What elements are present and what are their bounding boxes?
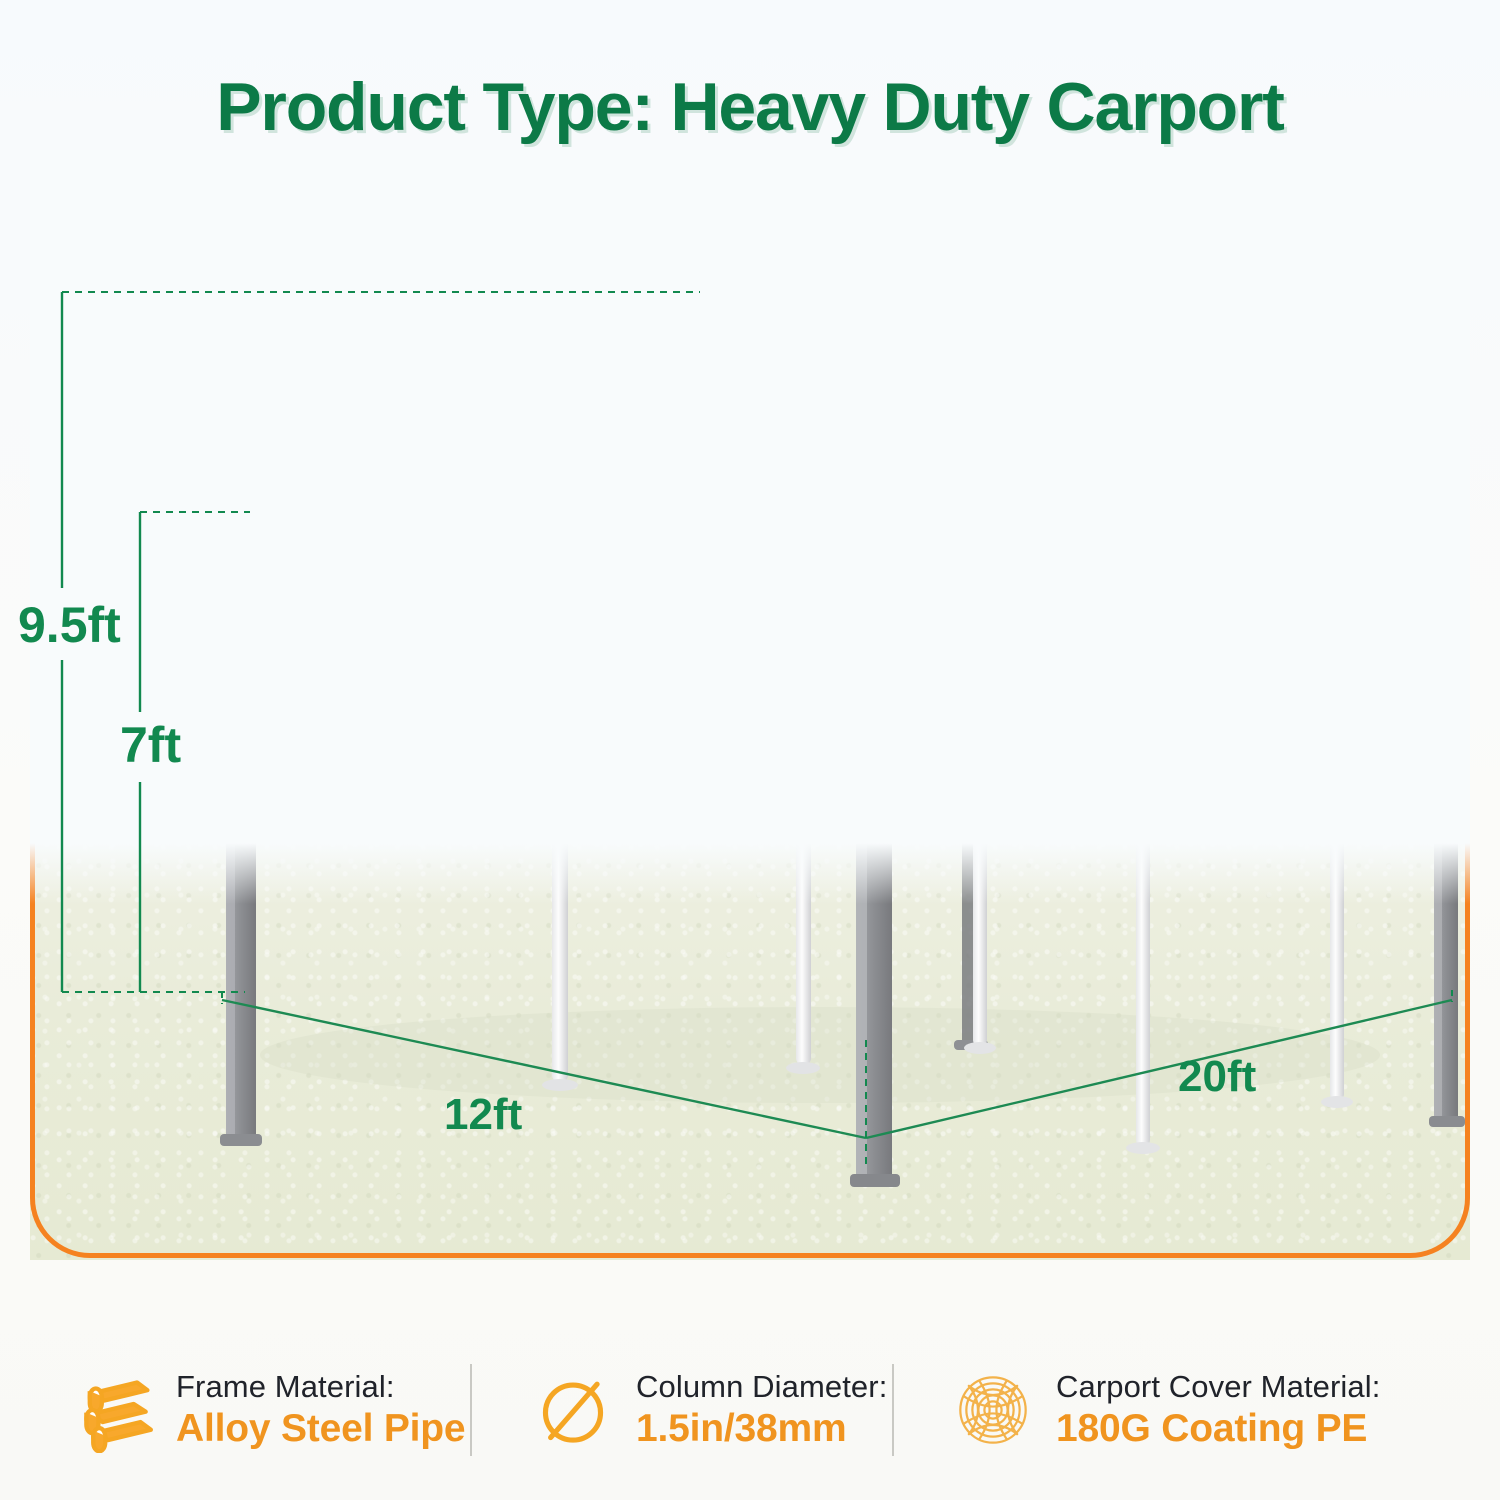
feature-column-diameter: Column Diameter: 1.5in/38mm	[472, 1355, 892, 1465]
svg-text:COBIZI: COBIZI	[924, 679, 1016, 707]
diameter-icon	[530, 1367, 616, 1453]
feature-label: Carport Cover Material:	[1056, 1369, 1380, 1405]
dimension-label-height-peak: 9.5ft	[18, 596, 121, 654]
title-banner: Product Type: Heavy Duty Carport	[0, 52, 1500, 162]
woven-knot-icon	[950, 1367, 1036, 1453]
feature-value: 180G Coating PE	[1056, 1407, 1380, 1451]
steel-pipes-icon	[70, 1367, 156, 1453]
page-title: Product Type: Heavy Duty Carport	[0, 52, 1500, 162]
dimension-label-width: 12ft	[444, 1090, 522, 1140]
feature-value: 1.5in/38mm	[636, 1407, 887, 1451]
feature-text-group: Frame Material: Alloy Steel Pipe	[176, 1369, 465, 1451]
feature-text-group: Column Diameter: 1.5in/38mm	[636, 1369, 887, 1451]
feature-text-group: Carport Cover Material: 180G Coating PE	[1056, 1369, 1380, 1451]
brand-logo: COBIZI	[924, 642, 1016, 707]
feature-bar: Frame Material: Alloy Steel Pipe Column …	[0, 1340, 1500, 1480]
product-infographic: Product Type: Heavy Duty Carport	[0, 0, 1500, 1500]
dimension-label-height-eave: 7ft	[120, 716, 181, 774]
feature-label: Frame Material:	[176, 1369, 465, 1405]
feature-frame-material: Frame Material: Alloy Steel Pipe	[0, 1355, 470, 1465]
feature-label: Column Diameter:	[636, 1369, 887, 1405]
dimension-label-length: 20ft	[1178, 1052, 1256, 1102]
feature-cover-material: Carport Cover Material: 180G Coating PE	[894, 1355, 1414, 1465]
feature-value: Alloy Steel Pipe	[176, 1407, 465, 1451]
